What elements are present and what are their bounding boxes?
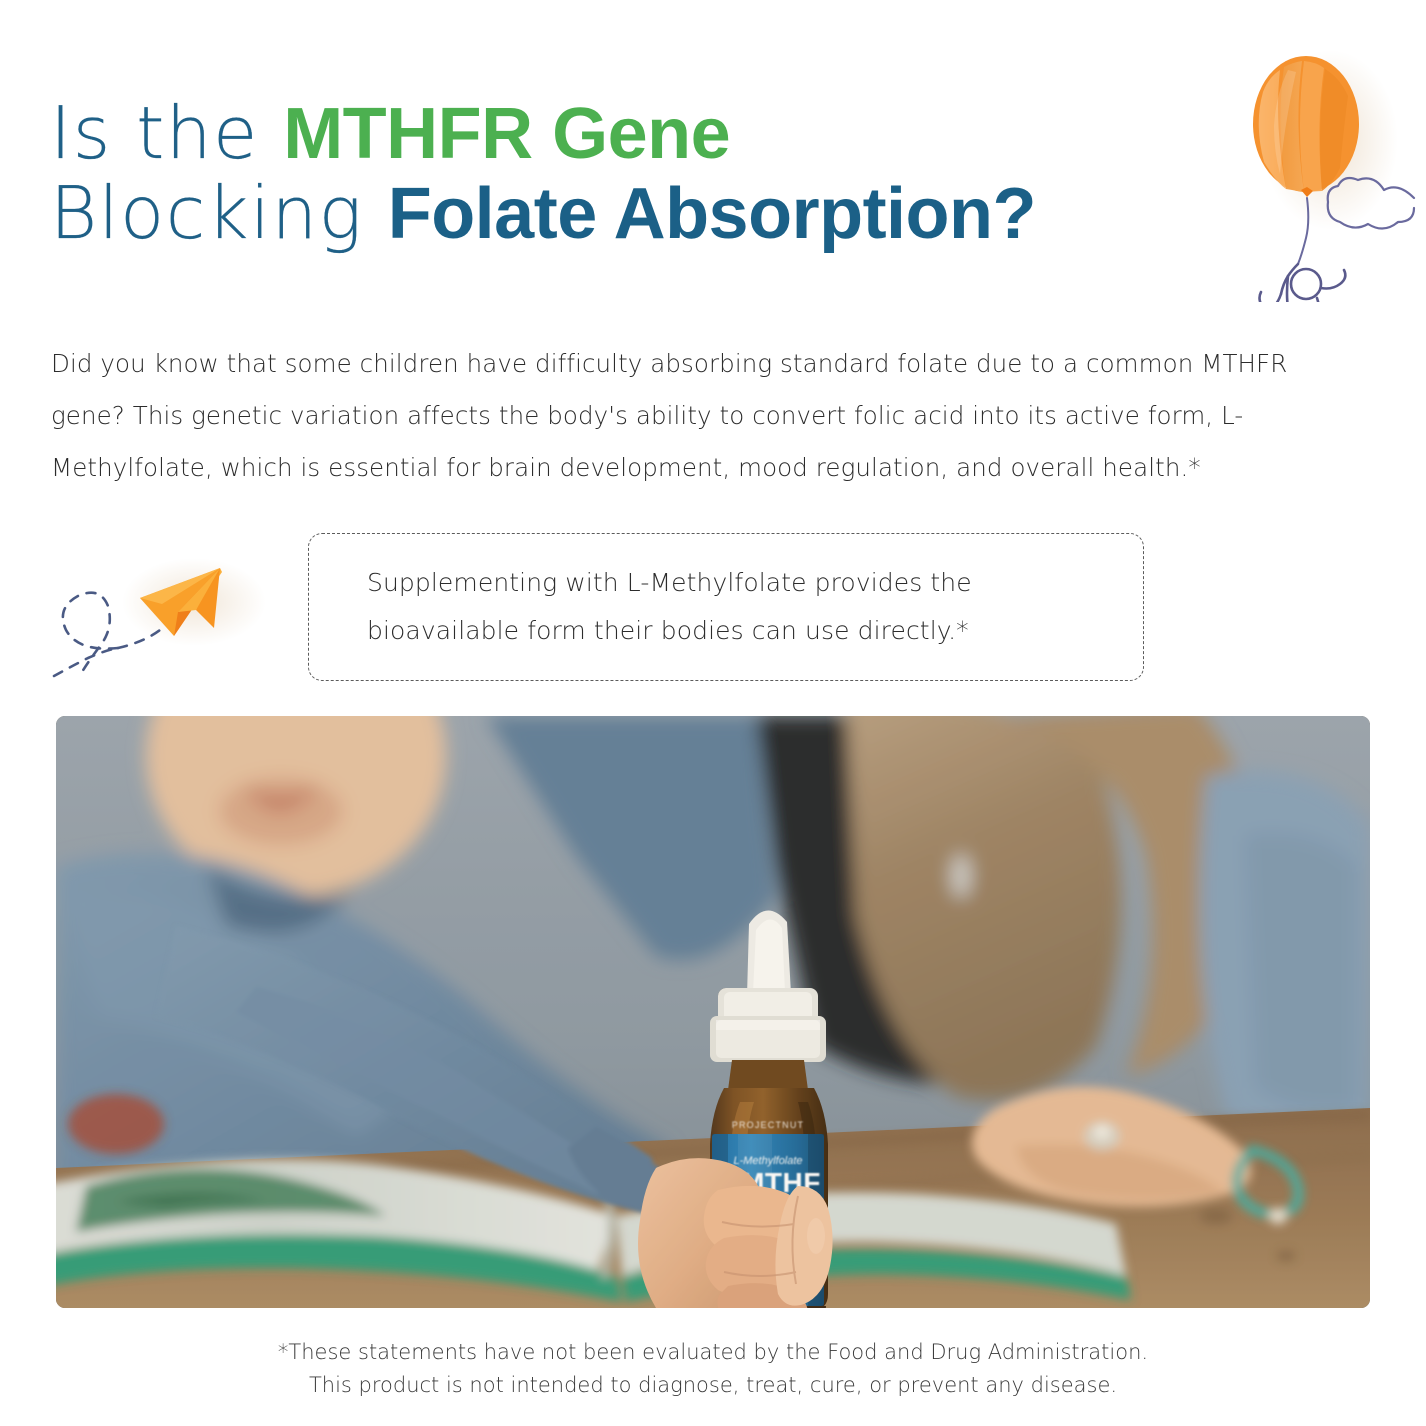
paper-plane-illustration bbox=[44, 540, 294, 680]
headline-accent-folate-absorption: Folate Absorption? bbox=[388, 174, 1036, 254]
lifestyle-photo: PROJECTNUT L-Methylfolate 5-MTHF PLUS AC… bbox=[56, 716, 1370, 1308]
headline-line-2: Blocking Folate Absorption? bbox=[50, 176, 1210, 252]
page-title: Is the MTHFR Gene Blocking Folate Absorp… bbox=[50, 96, 1210, 252]
headline-accent-mthfr-gene: MTHFR Gene bbox=[283, 94, 730, 174]
callout-text: Supplementing with L-Methylfolate provid… bbox=[367, 559, 1119, 655]
plane-body bbox=[140, 568, 222, 636]
disclaimer-line-2: This product is not intended to diagnose… bbox=[0, 1369, 1426, 1402]
headline-prefix-1: Is the bbox=[50, 91, 283, 175]
disclaimer: *These statements have not been evaluate… bbox=[0, 1336, 1426, 1402]
headline-prefix-2: Blocking bbox=[50, 171, 388, 255]
balloon-illustration bbox=[1218, 22, 1418, 302]
callout-box: Supplementing with L-Methylfolate provid… bbox=[308, 533, 1144, 681]
cloud-illustration bbox=[1328, 178, 1414, 229]
headline-line-1: Is the MTHFR Gene bbox=[50, 96, 1210, 172]
infographic-page: Is the MTHFR Gene Blocking Folate Absorp… bbox=[0, 0, 1426, 1426]
intro-paragraph: Did you know that some children have dif… bbox=[51, 338, 1351, 494]
plane-trail-dashes bbox=[54, 593, 178, 676]
balloon-body bbox=[1253, 56, 1359, 197]
disclaimer-line-1: *These statements have not been evaluate… bbox=[0, 1336, 1426, 1369]
stick-figure-illustration bbox=[1260, 264, 1346, 302]
